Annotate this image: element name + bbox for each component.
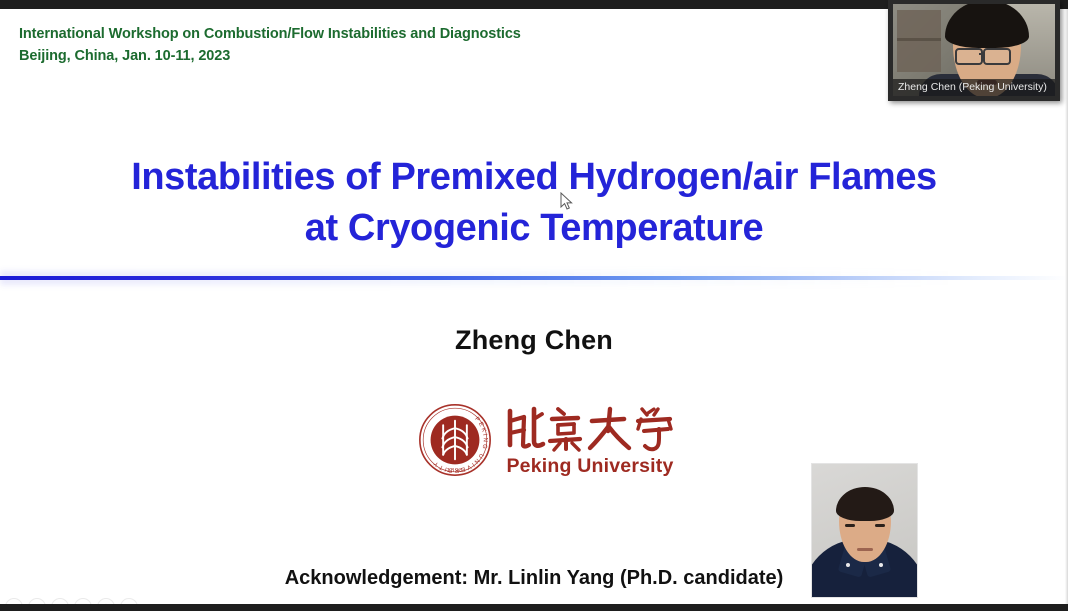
webcam-pip-panel[interactable]: Zheng Chen (Peking University) [888, 0, 1060, 101]
slide-title: Instabilities of Premixed Hydrogen/air F… [0, 152, 1068, 254]
slide-title-line-1: Instabilities of Premixed Hydrogen/air F… [0, 152, 1068, 203]
screenshare-bottom-letterbox [0, 604, 1068, 611]
webcam-participant-label: Zheng Chen (Peking University) [893, 79, 1055, 96]
title-divider-line [0, 276, 1068, 280]
logo-text-group: Peking University [502, 401, 678, 478]
screen-share-area: International Workshop on Combustion/Flo… [0, 0, 1068, 611]
conference-name: International Workshop on Combustion/Flo… [19, 24, 521, 46]
peking-university-logo: PEKING UNIVERSITY 1898 [418, 401, 680, 489]
conference-location-date: Beijing, China, Jan. 10-11, 2023 [19, 46, 521, 68]
pku-english-name: Peking University [506, 455, 673, 478]
peking-university-seal-icon: PEKING UNIVERSITY 1898 [418, 403, 492, 477]
slide-title-line-2: at Cryogenic Temperature [0, 203, 1068, 254]
conference-header: International Workshop on Combustion/Flo… [19, 24, 521, 68]
acknowledgement-text: Acknowledgement: Mr. Linlin Yang (Ph.D. … [0, 567, 1068, 590]
pku-chinese-name-icon [502, 401, 678, 453]
svg-text:1898: 1898 [447, 468, 464, 474]
author-name: Zheng Chen [0, 325, 1068, 356]
webcam-video-feed[interactable]: Zheng Chen (Peking University) [893, 4, 1055, 96]
